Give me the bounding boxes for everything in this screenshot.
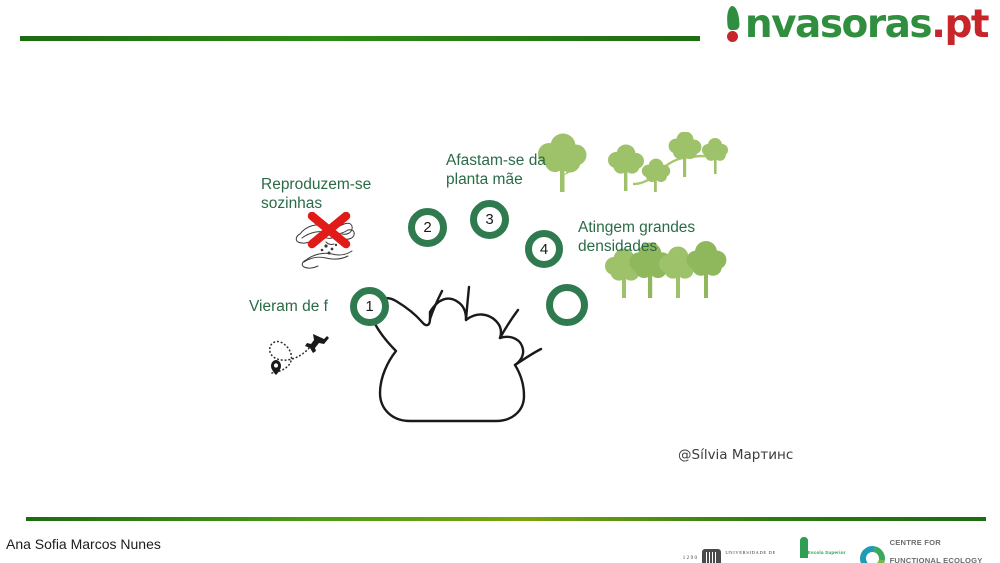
universidade-coimbra-logo: 1290 UNIVERSIDADE DE COIMBRA [683,542,780,563]
author-name: Ana Sofia Marcos Nunes [6,536,161,552]
hand-node-2[interactable]: 2 [408,208,447,247]
hand-node-5[interactable] [546,284,588,326]
centre-functional-ecology-logo: CENTRE FOR FUNCTIONAL ECOLOGY SCIENCE FO… [860,532,994,563]
image-credit: @Sílvia Мартинс [678,447,793,463]
label-vieram-de-fora: Vieram de f [249,298,359,317]
hand-node-4-label: 4 [540,241,548,258]
cfe-ring-icon [855,541,890,563]
hand-node-3[interactable]: 3 [470,200,509,239]
spreading-trees-icon [533,132,728,199]
coimbra-seal-icon [702,549,721,563]
cfe-line-2: FUNCTIONAL ECOLOGY [890,556,983,563]
hand-node-1-label: 1 [365,298,373,315]
footer-divider-rule [26,517,986,521]
coimbra-top-line: UNIVERSIDADE DE [725,550,775,555]
hand-node-4[interactable]: 4 [525,230,563,268]
footer-logo-group: 1290 UNIVERSIDADE DE COIMBRA Escola Supe… [683,532,994,563]
brand-name-green: nvasoras [745,5,931,44]
slide-canvas: nvasoras . pt [0,0,1000,563]
label-reproduzem-se-sozinhas: Reproduzem-se sozinhas [261,176,391,214]
esa-name-line: Escola Superior [808,551,846,556]
leaf-exclamation-icon [722,4,744,44]
coimbra-year: 1290 [683,556,699,561]
label-atingem-grandes-densidades: Atingem grandes densidades [578,219,728,257]
brand-name-tld: pt [944,5,988,44]
cfe-line-1: CENTRE FOR [890,538,941,547]
header-divider-rule [20,36,700,41]
hand-node-2-label: 2 [423,219,431,236]
esa-arch-icon [800,537,808,558]
invasoras-logo[interactable]: nvasoras . pt [722,2,988,46]
label-afastam-se-da-planta-mae: Afastam-se da planta mãe [446,152,546,190]
escola-superior-agraria-logo: Escola Superior Agrária [794,542,846,563]
hand-node-3-label: 3 [485,211,493,228]
brand-name-dot: . [931,5,944,44]
airplane-dotted-route-pin-icon [258,326,330,385]
